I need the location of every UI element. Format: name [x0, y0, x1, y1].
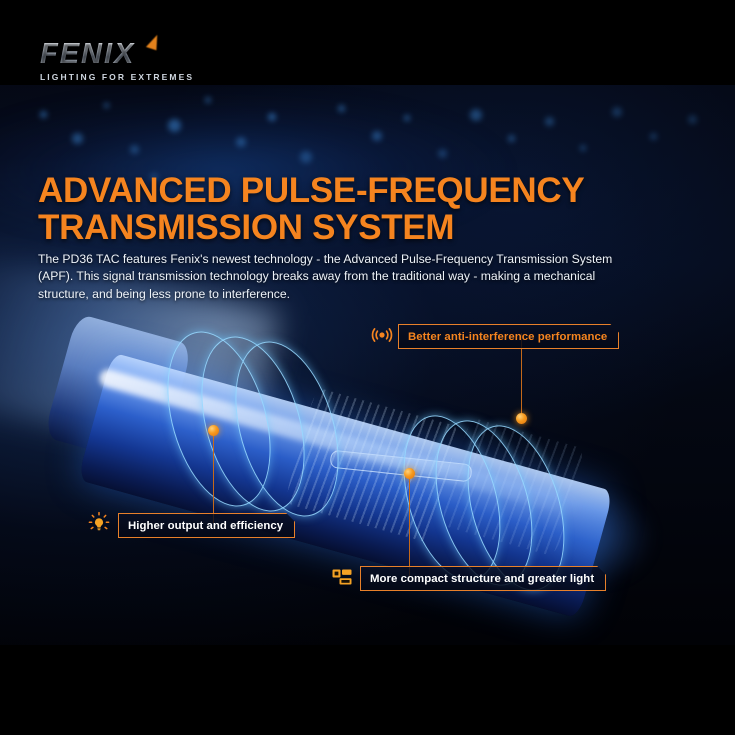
brand-tagline: LIGHTING FOR EXTREMES	[40, 72, 220, 82]
pulse-rings	[0, 85, 735, 645]
promo-graphic: FENIX LIGHTING FOR EXTREMES ADVANCED PUL…	[0, 0, 735, 735]
leader-line-higher-output	[213, 435, 214, 523]
hotspot-anti-interference[interactable]	[516, 413, 527, 424]
page-title: ADVANCED PULSE-FREQUENCY TRANSMISSION SY…	[38, 172, 658, 246]
lightbulb-icon	[87, 511, 111, 535]
title-line-1: ADVANCED PULSE-FREQUENCY	[38, 172, 658, 209]
callout-label: Higher output and efficiency	[128, 520, 283, 532]
brand-name: FENIX	[40, 40, 220, 69]
hotspot-higher-output[interactable]	[208, 425, 219, 436]
callout-compact-structure[interactable]: More compact structure and greater light	[360, 566, 606, 591]
callout-higher-output[interactable]: Higher output and efficiency	[118, 513, 295, 538]
description-paragraph: The PD36 TAC features Fenix's newest tec…	[38, 251, 618, 303]
callout-anti-interference[interactable]: Better anti-interference performance	[398, 324, 619, 349]
callout-label: More compact structure and greater light	[370, 573, 594, 585]
callout-label: Better anti-interference performance	[408, 331, 607, 343]
modules-blocks-icon	[330, 565, 354, 589]
signal-broadcast-icon	[370, 323, 394, 347]
leader-line-compact-structure	[409, 478, 410, 578]
brand-logo: FENIX LIGHTING FOR EXTREMES	[40, 40, 220, 82]
hotspot-compact-structure[interactable]	[404, 468, 415, 479]
artwork-band	[0, 85, 735, 645]
title-line-2: TRANSMISSION SYSTEM	[38, 209, 658, 246]
